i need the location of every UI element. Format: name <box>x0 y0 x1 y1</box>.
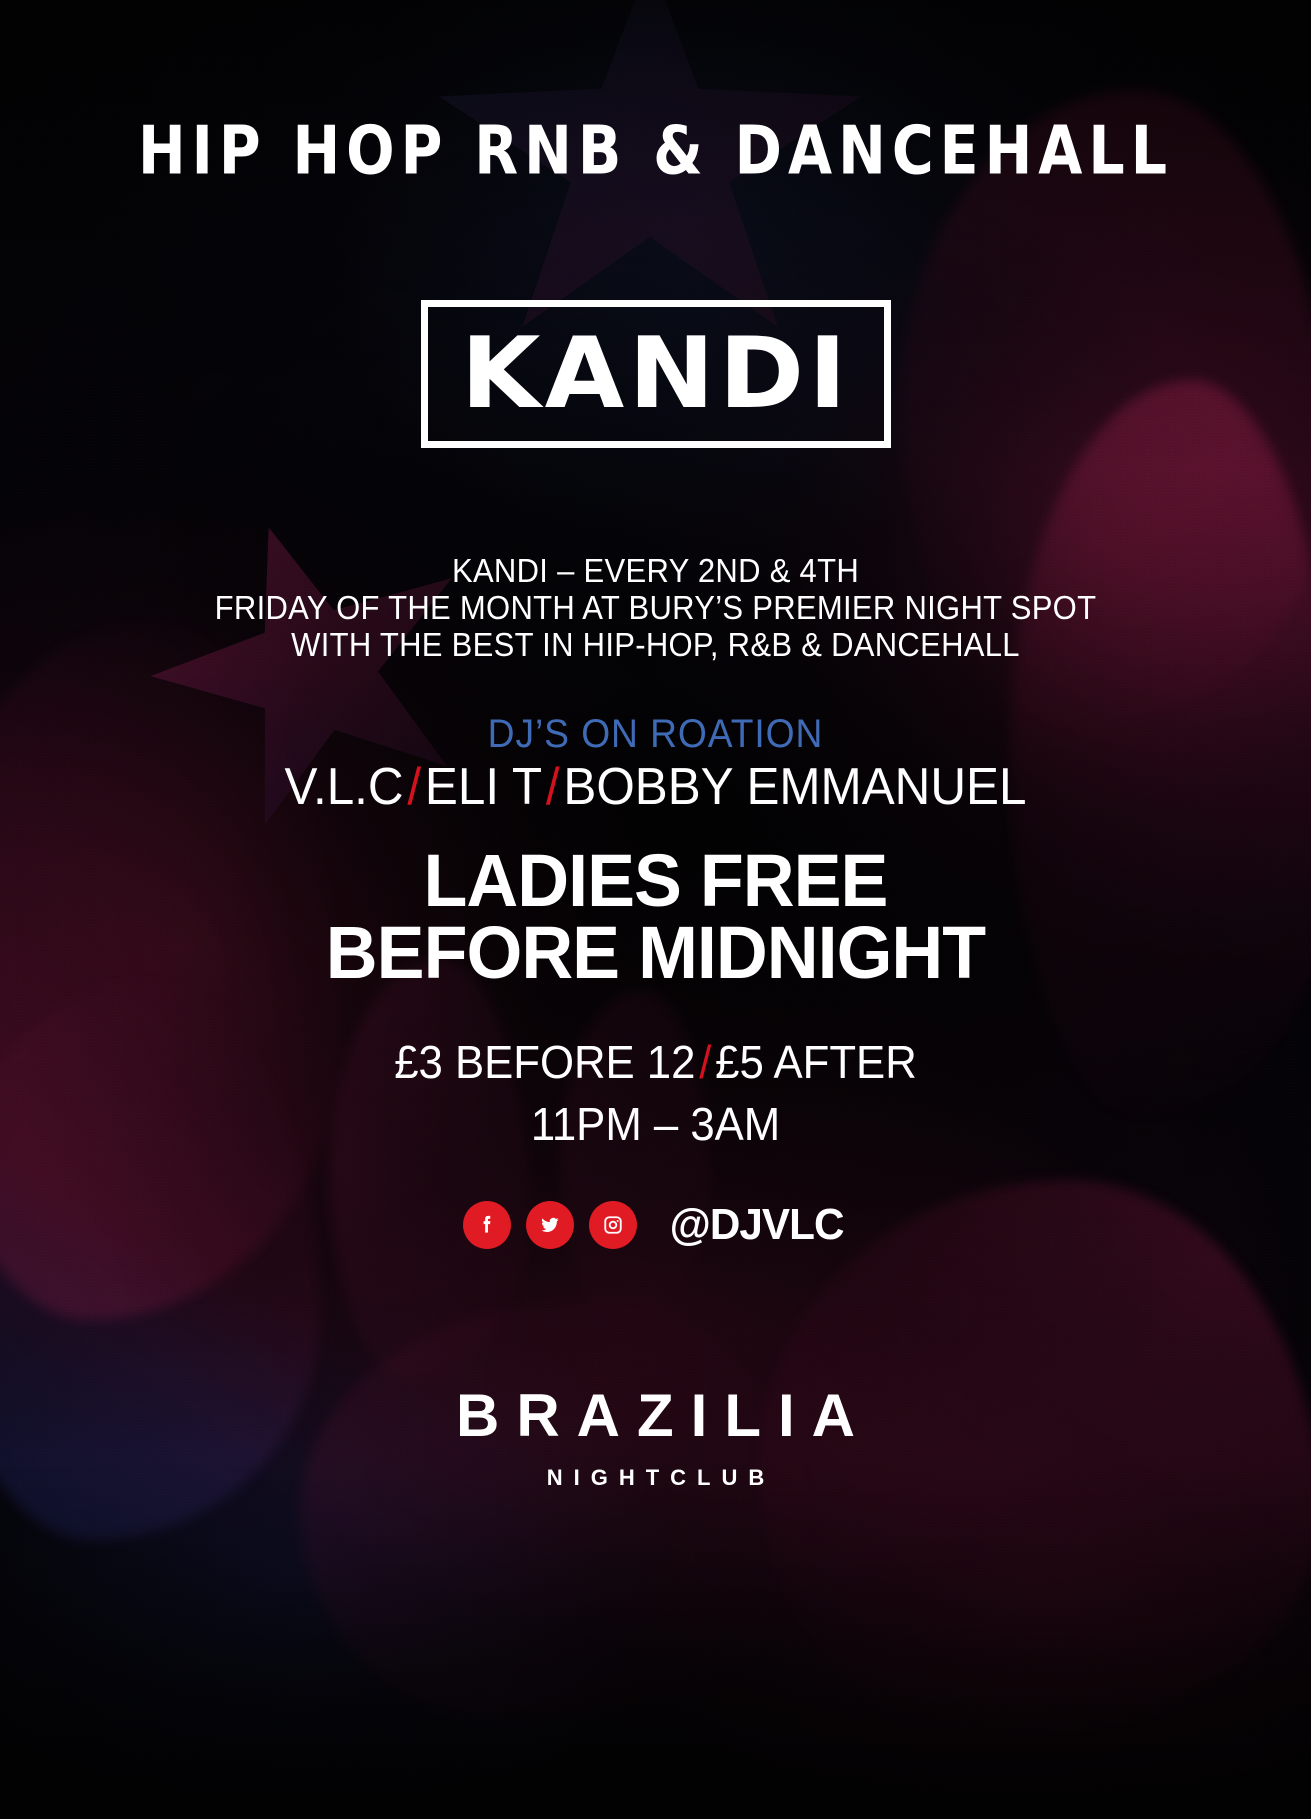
social-handle[interactable]: @DJVLC <box>670 1200 844 1250</box>
dj-name-3: BOBBY EMMANUEL <box>563 758 1026 816</box>
social-links-row: @DJVLC <box>0 1200 1311 1250</box>
dj-separator: / <box>542 758 563 816</box>
dj-name-1: V.L.C <box>285 758 404 816</box>
venue-type: NIGHTCLUB <box>0 1465 1311 1491</box>
dj-rotation-heading: DJ’S ON ROATION <box>46 712 1265 757</box>
offer-line-2: BEFORE MIDNIGHT <box>20 917 1292 989</box>
event-time: 11PM – 3AM <box>33 1097 1278 1151</box>
kandi-logo-box: KANDI <box>421 300 891 448</box>
event-description: KANDI – EVERY 2ND & 4TH FRIDAY OF THE MO… <box>39 552 1271 663</box>
price-before-midnight: £3 BEFORE 12 <box>394 1036 695 1088</box>
admission-price: £3 BEFORE 12/£5 AFTER <box>33 1035 1278 1089</box>
ladies-free-offer: LADIES FREE BEFORE MIDNIGHT <box>20 845 1292 989</box>
dj-name-2: ELI T <box>425 758 542 816</box>
price-separator: / <box>695 1036 715 1088</box>
price-after-midnight: £5 AFTER <box>715 1036 917 1088</box>
event-poster: HIP HOP RNB & DANCEHALL KANDI KANDI – EV… <box>0 0 1311 1819</box>
description-line-3: WITH THE BEST IN HIP-HOP, R&B & DANCEHAL… <box>39 626 1271 663</box>
poster-headline: HIP HOP RNB & DANCEHALL <box>0 112 1311 190</box>
venue-name: BRAZILIA <box>0 1381 1311 1450</box>
description-line-1: KANDI – EVERY 2ND & 4TH <box>39 552 1271 589</box>
twitter-icon[interactable] <box>526 1201 574 1249</box>
facebook-icon[interactable] <box>463 1201 511 1249</box>
description-line-2: FRIDAY OF THE MONTH AT BURY’S PREMIER NI… <box>39 589 1271 626</box>
kandi-logo-text: KANDI <box>460 325 850 423</box>
dj-separator: / <box>404 758 425 816</box>
offer-line-1: LADIES FREE <box>20 845 1292 917</box>
instagram-icon[interactable] <box>589 1201 637 1249</box>
dj-names-list: V.L.C/ELI T/BOBBY EMMANUEL <box>33 757 1278 817</box>
